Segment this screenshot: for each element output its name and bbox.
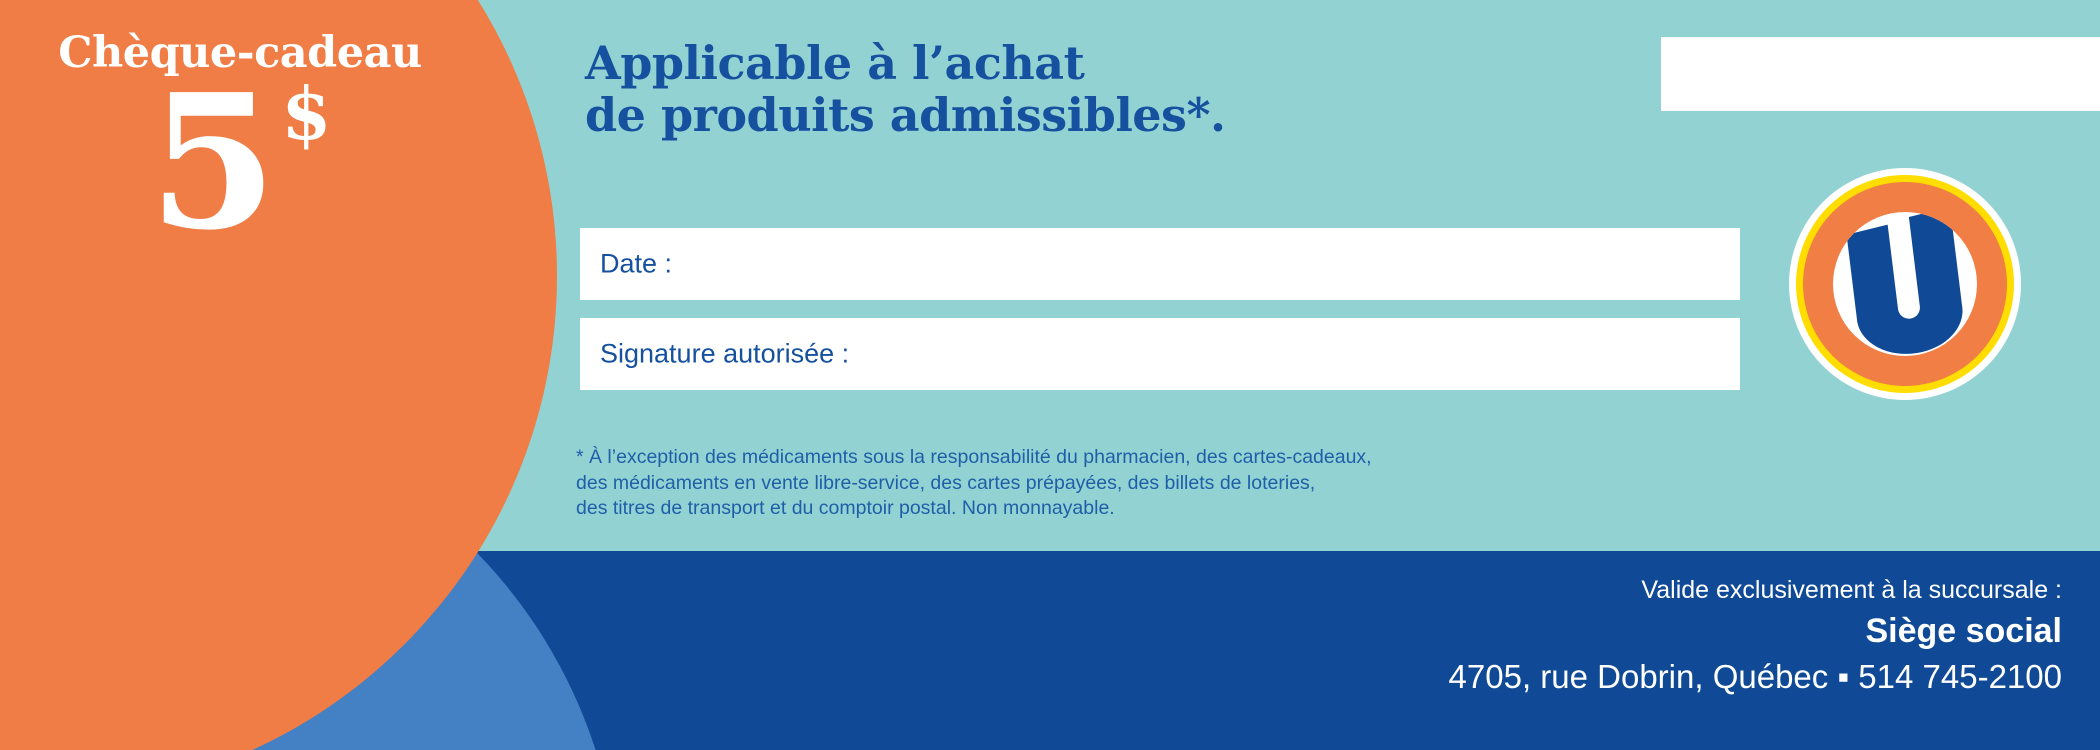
- signature-field-label: Signature autorisée :: [600, 339, 849, 370]
- headline-text: Applicable à l’achat de produits admissi…: [585, 38, 1226, 141]
- amount-block: 5$: [55, 70, 425, 255]
- logo-inner-white-disc: [1833, 212, 1977, 356]
- amount-value: 5: [149, 53, 274, 271]
- logo-letter-u-icon: [1833, 212, 1977, 356]
- footnote-disclaimer: * À l’exception des médicaments sous la …: [576, 445, 1456, 522]
- store-intro-text: Valide exclusivement à la succursale :: [1449, 575, 2062, 606]
- blank-write-in-bar[interactable]: [1661, 37, 2100, 111]
- signature-field[interactable]: Signature autorisée :: [580, 318, 1740, 390]
- store-info-block: Valide exclusivement à la succursale : S…: [1449, 575, 2062, 697]
- date-field[interactable]: Date :: [580, 228, 1740, 300]
- currency-symbol: $: [281, 71, 331, 156]
- store-address-phone: 4705, rue Dobrin, Québec ▪ 514 745-2100: [1449, 656, 2062, 697]
- date-field-label: Date :: [600, 249, 672, 280]
- store-name: Siège social: [1449, 610, 2062, 653]
- uniprix-logo-icon: [1789, 168, 2021, 400]
- gift-certificate: Chèque-cadeau 5$ Applicable à l’achat de…: [0, 0, 2100, 750]
